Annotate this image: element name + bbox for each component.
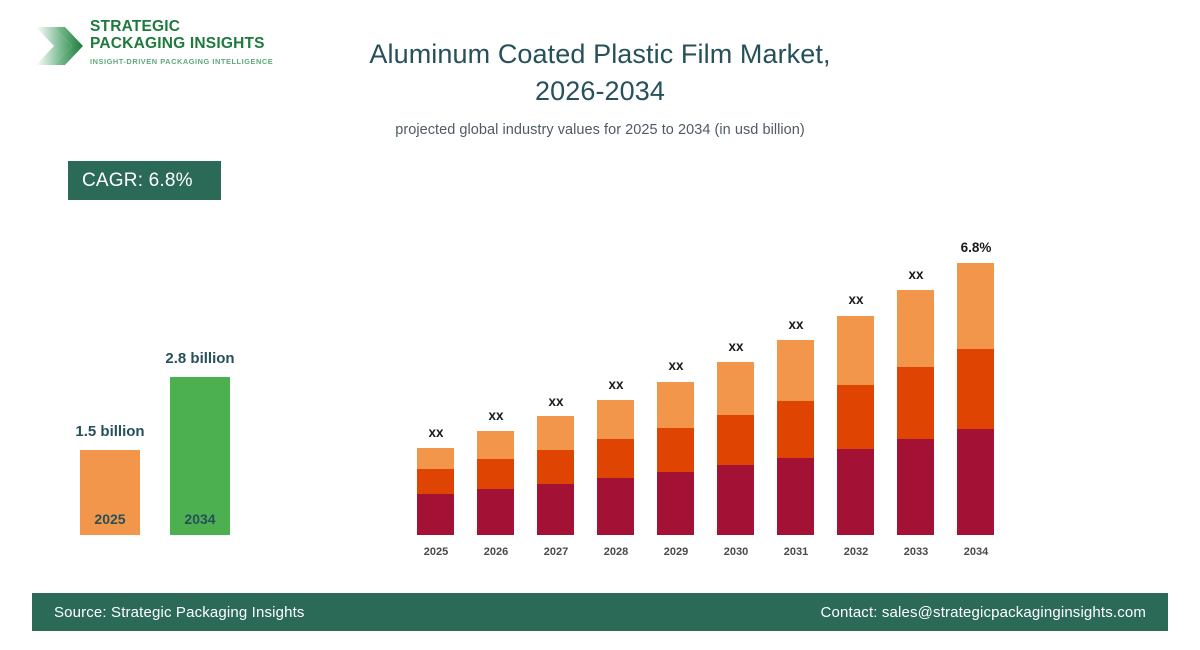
stacked-bar-x-label: 2026 xyxy=(466,546,526,558)
stacked-bar-top-label: xx xyxy=(641,358,711,373)
stacked-bar-segment-segment-2 xyxy=(957,349,994,429)
stacked-bar xyxy=(417,448,454,535)
stacked-bar-segment-segment-1 xyxy=(777,458,814,535)
brand-logo: STRATEGIC PACKAGING INSIGHTS INSIGHT-DRI… xyxy=(34,18,264,78)
stacked-bar-top-label: xx xyxy=(761,317,831,332)
stacked-bar-segment-segment-2 xyxy=(537,450,574,484)
stacked-bar-segment-segment-1 xyxy=(537,484,574,535)
stacked-bar-segment-segment-1 xyxy=(597,478,634,535)
stacked-bar-segment-segment-3 xyxy=(477,431,514,459)
stacked-bar-group: xx2027 xyxy=(537,215,574,560)
stacked-bar-segment-segment-3 xyxy=(657,382,694,428)
stacked-bar-x-label: 2033 xyxy=(886,546,946,558)
chevron-logo-icon xyxy=(34,24,84,68)
stacked-bar-group: xx2028 xyxy=(597,215,634,560)
stacked-bar-segment-segment-1 xyxy=(417,494,454,535)
stacked-bar-segment-segment-1 xyxy=(657,472,694,535)
stacked-bar-group: xx2031 xyxy=(777,215,814,560)
stacked-bar-top-label: xx xyxy=(461,408,531,423)
stacked-bar xyxy=(537,416,574,535)
stacked-bar-segment-segment-3 xyxy=(717,362,754,415)
stacked-bar-top-label: 6.8% xyxy=(941,240,1011,255)
stacked-bar xyxy=(657,382,694,535)
stacked-bar-group: 6.8%2034 xyxy=(957,215,994,560)
page-title-line2: 2026-2034 xyxy=(300,73,900,110)
stacked-bar-segment-segment-3 xyxy=(597,400,634,439)
stacked-bar xyxy=(477,431,514,535)
stacked-bar-x-label: 2028 xyxy=(586,546,646,558)
stacked-bar-x-label: 2027 xyxy=(526,546,586,558)
stacked-bar-top-label: xx xyxy=(521,394,591,409)
footer-source: Source: Strategic Packaging Insights xyxy=(54,604,305,621)
stacked-bar-segment-segment-3 xyxy=(537,416,574,450)
title-block: Aluminum Coated Plastic Film Market, 202… xyxy=(300,36,900,138)
footer-bar: Source: Strategic Packaging Insights Con… xyxy=(32,593,1168,631)
stacked-bar-segment-segment-1 xyxy=(717,465,754,535)
comparison-bar-value-label: 1.5 billion xyxy=(30,423,190,440)
stacked-bar-x-label: 2034 xyxy=(946,546,1006,558)
stacked-bar-segment-segment-3 xyxy=(897,290,934,367)
stacked-bar xyxy=(957,263,994,535)
stacked-bar-segment-segment-2 xyxy=(477,459,514,489)
stacked-bar-x-label: 2032 xyxy=(826,546,886,558)
stacked-bar-segment-segment-2 xyxy=(657,428,694,472)
stacked-bar-group: xx2029 xyxy=(657,215,694,560)
stacked-bar-group: xx2033 xyxy=(897,215,934,560)
stacked-bar xyxy=(717,362,754,535)
stacked-bar-segment-segment-3 xyxy=(957,263,994,349)
stacked-bar-segment-segment-3 xyxy=(777,340,814,401)
cagr-badge-label: CAGR: 6.8% xyxy=(82,170,193,192)
stacked-bar-top-label: xx xyxy=(401,425,471,440)
footer-contact: Contact: sales@strategicpackaginginsight… xyxy=(821,604,1146,621)
comparison-bar-group: 1.5 billion2025 xyxy=(80,450,140,535)
comparison-bar-x-label: 2034 xyxy=(140,511,260,527)
stacked-bar xyxy=(777,340,814,535)
stacked-bar-top-label: xx xyxy=(881,267,951,282)
stacked-bar-x-label: 2031 xyxy=(766,546,826,558)
endpoint-comparison-chart: 1.5 billion20252.8 billion2034 xyxy=(55,300,285,570)
stacked-bar-segment-segment-2 xyxy=(717,415,754,465)
stacked-bar-x-label: 2030 xyxy=(706,546,766,558)
stacked-bar-segment-segment-2 xyxy=(777,401,814,458)
stacked-bar-segment-segment-3 xyxy=(417,448,454,469)
stacked-bar-group: xx2026 xyxy=(477,215,514,560)
brand-tagline: INSIGHT-DRIVEN PACKAGING INTELLIGENCE xyxy=(90,57,273,66)
stacked-bar-x-label: 2025 xyxy=(406,546,466,558)
stacked-bar-top-label: xx xyxy=(581,377,651,392)
infographic-page: STRATEGIC PACKAGING INSIGHTS INSIGHT-DRI… xyxy=(0,0,1200,650)
stacked-bar-segment-segment-2 xyxy=(837,385,874,449)
stacked-bar-segment-segment-1 xyxy=(897,439,934,535)
page-title-line1: Aluminum Coated Plastic Film Market, xyxy=(300,36,900,73)
page-subtitle: projected global industry values for 202… xyxy=(300,122,900,138)
stacked-bar xyxy=(897,290,934,535)
stacked-bar-segment-segment-1 xyxy=(477,489,514,535)
brand-logo-text: STRATEGIC PACKAGING INSIGHTS INSIGHT-DRI… xyxy=(90,18,273,66)
stacked-bar-group: xx2030 xyxy=(717,215,754,560)
stacked-bar-segment-segment-1 xyxy=(837,449,874,535)
stacked-bar-x-label: 2029 xyxy=(646,546,706,558)
stacked-bar-segment-segment-3 xyxy=(837,316,874,385)
stacked-bar-group: xx2032 xyxy=(837,215,874,560)
stacked-bar-segment-segment-2 xyxy=(897,367,934,439)
brand-name-line2: PACKAGING INSIGHTS xyxy=(90,35,273,52)
cagr-badge: CAGR: 6.8% xyxy=(68,161,221,200)
stacked-bar xyxy=(597,400,634,535)
stacked-bar-top-label: xx xyxy=(821,292,891,307)
stacked-bar-segment-segment-1 xyxy=(957,429,994,535)
comparison-bar-value-label: 2.8 billion xyxy=(120,350,280,367)
stacked-bar-group: xx2025 xyxy=(417,215,454,560)
stacked-bar-segment-segment-2 xyxy=(597,439,634,478)
comparison-bar-group: 2.8 billion2034 xyxy=(170,377,230,535)
stacked-bar xyxy=(837,316,874,535)
stacked-bar-segment-segment-2 xyxy=(417,469,454,494)
stacked-bar-top-label: xx xyxy=(701,339,771,354)
projection-stacked-chart: xx2025xx2026xx2027xx2028xx2029xx2030xx20… xyxy=(400,190,1020,560)
brand-name-line1: STRATEGIC xyxy=(90,18,273,35)
